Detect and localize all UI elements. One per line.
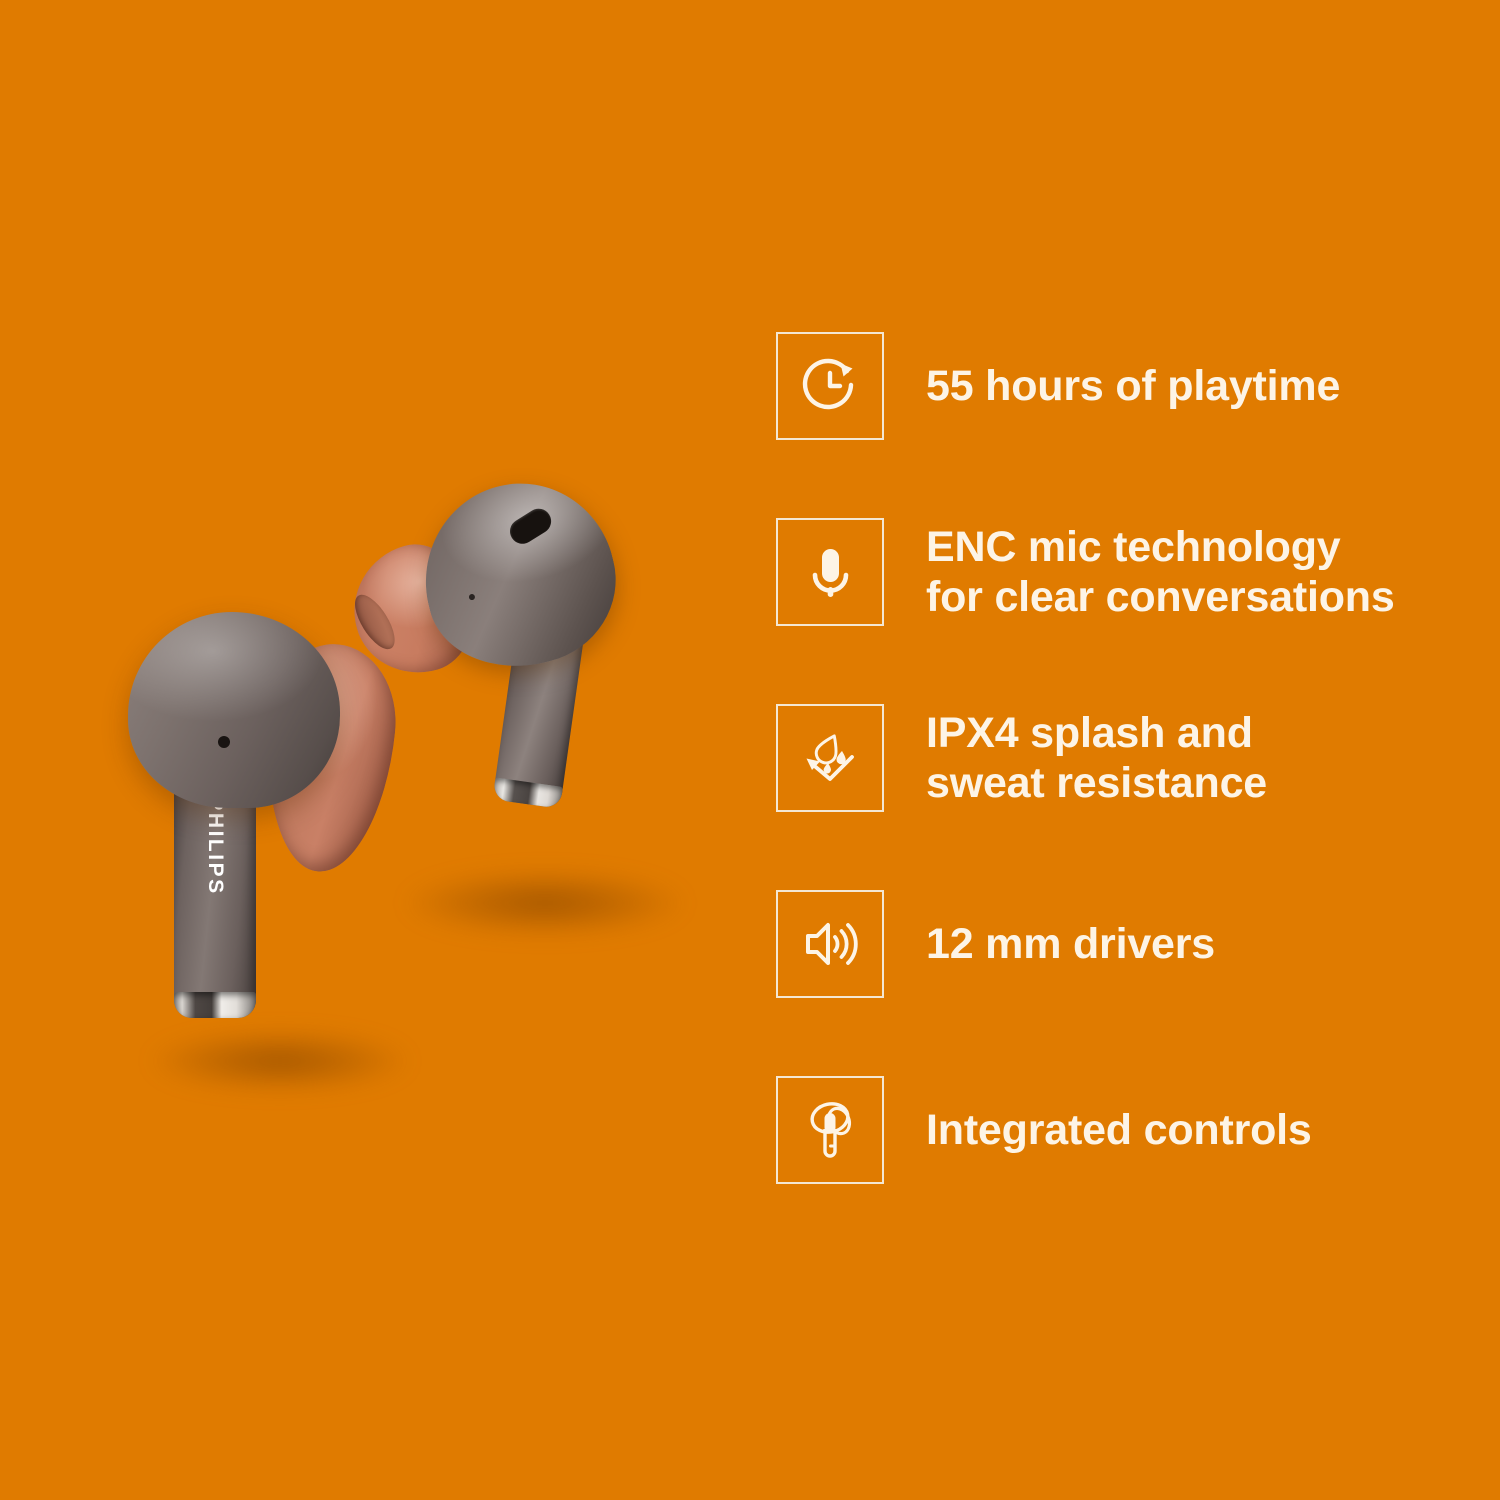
speaker-volume-icon-box <box>776 890 884 998</box>
feature-row-drivers: 12 mm drivers <box>776 888 1476 1000</box>
feature-label-ipx4: IPX4 splash and sweat resistance <box>926 708 1267 809</box>
left-earbud-charging-contact <box>174 992 256 1018</box>
right-earbud-touch-sensor <box>505 504 556 549</box>
earbud-touch-control-icon <box>795 1095 865 1165</box>
left-earbud: PHILIPS <box>128 612 428 1032</box>
microphone-icon <box>795 537 865 607</box>
clock-refresh-icon-box <box>776 332 884 440</box>
feature-list: 55 hours of playtime ENC mic technology … <box>776 330 1476 1186</box>
left-earbud-housing <box>128 612 340 808</box>
feature-label-enc-mic: ENC mic technology for clear conversatio… <box>926 522 1395 623</box>
feature-row-enc-mic: ENC mic technology for clear conversatio… <box>776 516 1476 628</box>
feature-label-drivers: 12 mm drivers <box>926 919 1215 969</box>
feature-row-ipx4: IPX4 splash and sweat resistance <box>776 702 1476 814</box>
philips-logo-text: PHILIPS <box>203 796 227 895</box>
left-earbud-shadow <box>150 1030 410 1092</box>
product-image-area: PHILIPS <box>0 0 760 1500</box>
clock-refresh-icon <box>795 351 865 421</box>
left-earbud-mic-hole <box>218 736 230 748</box>
product-feature-banner: PHILIPS 55 hours of playtime <box>0 0 1500 1500</box>
earbud-touch-control-icon-box <box>776 1076 884 1184</box>
right-earbud-charging-contact <box>492 778 562 809</box>
feature-label-controls: Integrated controls <box>926 1105 1312 1155</box>
right-earbud-shadow <box>405 870 685 936</box>
water-droplet-repel-icon-box <box>776 704 884 812</box>
microphone-icon-box <box>776 518 884 626</box>
speaker-volume-icon <box>795 909 865 979</box>
feature-row-controls: Integrated controls <box>776 1074 1476 1186</box>
right-earbud-mic-hole <box>468 593 475 600</box>
water-droplet-repel-icon <box>795 723 865 793</box>
feature-row-playtime: 55 hours of playtime <box>776 330 1476 442</box>
feature-label-playtime: 55 hours of playtime <box>926 361 1340 411</box>
